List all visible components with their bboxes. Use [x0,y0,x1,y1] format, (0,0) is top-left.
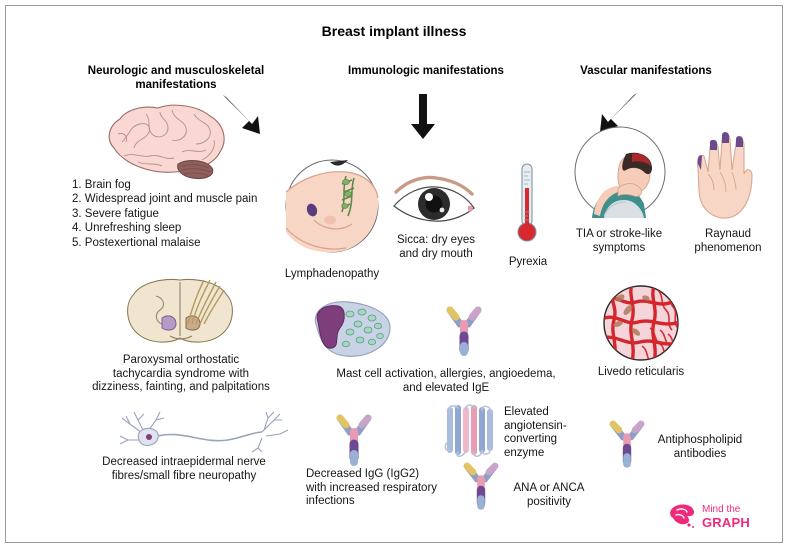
logo-brain-icon [668,503,698,529]
caption-livedo: Livedo reticularis [576,366,706,380]
caption-antiphospholipid: Antiphospholipid antibodies [638,434,762,461]
breast-lymphatic-icon [284,158,380,254]
caption-mast-cell: Mast cell activation, allergies, angioed… [306,368,586,395]
caption-sicca: Sicca: dry eyes and dry mouth [384,234,488,261]
mast-cell-icon [306,298,394,360]
column-header-immunologic: Immunologic manifestations [316,64,536,78]
antibody-icon-ige [446,306,482,356]
livedo-circle-icon [602,284,680,362]
column-header-neurologic: Neurologic and musculoskeletal manifesta… [46,64,306,92]
logo-line1: Mind the [702,505,740,515]
antibody-icon-igg [336,414,372,466]
page-title: Breast implant illness [6,23,782,39]
caption-neuropathy: Decreased intraepidermal nerve fibres/sm… [74,456,294,483]
caption-pots: Paroxysmal orthostatic tachycardia syndr… [66,354,296,395]
thermometer-icon [515,162,539,248]
logo-line2: GRAPH [702,516,750,529]
caption-tia: TIA or stroke-like symptoms [554,228,684,255]
antibody-icon-ana [464,462,498,510]
ace-enzyme-icon [440,404,500,458]
infographic-frame: Breast implant illness Neurologic and mu… [5,5,783,543]
column-header-vascular: Vascular manifestations [546,64,746,78]
spinal-cord-icon [126,278,238,346]
headache-person-icon [574,126,666,218]
neuron-icon [112,410,292,454]
mind-the-graph-logo: Mind the GRAPH [668,501,778,535]
brain-icon [102,102,232,180]
eye-icon [392,174,476,226]
caption-lymphadenopathy: Lymphadenopathy [262,268,402,282]
caption-ana: ANA or ANCA positivity [494,482,604,509]
caption-pyrexia: Pyrexia [494,256,562,270]
arrow-icon-middle [410,94,436,140]
raynaud-hand-icon [690,128,758,220]
caption-ace: Elevated angiotensin- converting enzyme [504,406,596,460]
caption-raynaud: Raynaud phenomenon [678,228,778,255]
